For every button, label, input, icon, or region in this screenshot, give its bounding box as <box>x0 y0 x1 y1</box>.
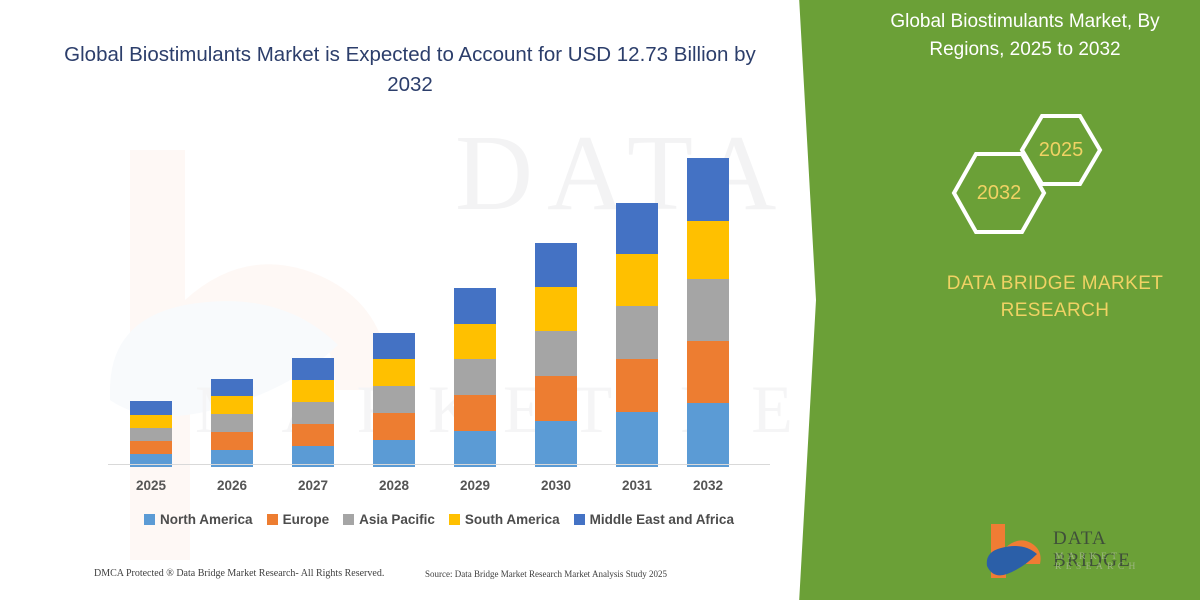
legend-label: Europe <box>283 512 330 527</box>
bar-segment[interactable] <box>373 386 415 413</box>
chart-plot-area <box>108 145 768 467</box>
legend-swatch-icon <box>343 514 354 525</box>
hexagon-label-2025: 2025 <box>1039 139 1084 162</box>
bar-segment[interactable] <box>373 413 415 440</box>
bar-segment[interactable] <box>454 324 496 359</box>
bar-segment[interactable] <box>292 424 334 446</box>
legend-item[interactable]: Middle East and Africa <box>574 512 734 527</box>
data-bridge-logo: DATA BRIDGE MARKET RESEARCH <box>985 522 1185 584</box>
chart-legend: North AmericaEuropeAsia PacificSouth Ame… <box>108 512 770 527</box>
brand-name: DATA BRIDGE MARKET RESEARCH <box>920 270 1190 324</box>
bar-segment[interactable] <box>292 358 334 380</box>
x-axis-tick-label: 2027 <box>273 478 353 493</box>
legend-label: South America <box>465 512 560 527</box>
hexagon-label-2032: 2032 <box>977 182 1022 205</box>
bar-segment[interactable] <box>616 359 658 412</box>
legend-item[interactable]: South America <box>449 512 560 527</box>
bar-segment[interactable] <box>616 203 658 254</box>
hexagon-badge-2025: 2025 <box>1018 112 1104 188</box>
bar-segment[interactable] <box>687 158 729 221</box>
x-axis-tick-label: 2029 <box>435 478 515 493</box>
bar-segment[interactable] <box>616 412 658 467</box>
bar-segment[interactable] <box>292 380 334 402</box>
x-axis-tick-label: 2031 <box>597 478 677 493</box>
stacked-bar[interactable] <box>454 288 496 467</box>
bar-segment[interactable] <box>211 432 253 450</box>
bar-segment[interactable] <box>130 428 172 441</box>
footer-dmca-text: DMCA Protected ® Data Bridge Market Rese… <box>94 568 384 579</box>
x-axis-tick-label: 2025 <box>111 478 191 493</box>
legend-swatch-icon <box>449 514 460 525</box>
footer: DMCA Protected ® Data Bridge Market Rese… <box>80 568 780 584</box>
legend-swatch-icon <box>574 514 585 525</box>
stacked-bar[interactable] <box>211 379 253 467</box>
bar-segment[interactable] <box>687 403 729 467</box>
legend-label: Asia Pacific <box>359 512 435 527</box>
stacked-bar[interactable] <box>292 358 334 467</box>
bar-segment[interactable] <box>454 359 496 395</box>
bar-segment[interactable] <box>373 359 415 386</box>
bar-segment[interactable] <box>454 395 496 431</box>
bar-segment[interactable] <box>616 254 658 306</box>
bar-segment[interactable] <box>211 396 253 414</box>
bar-segment[interactable] <box>535 243 577 287</box>
legend-swatch-icon <box>267 514 278 525</box>
stacked-bar[interactable] <box>616 203 658 467</box>
stacked-bar[interactable] <box>130 401 172 467</box>
data-bridge-b-icon <box>985 522 1049 580</box>
bar-segment[interactable] <box>373 333 415 359</box>
bar-segment[interactable] <box>130 415 172 428</box>
legend-item[interactable]: Asia Pacific <box>343 512 435 527</box>
panel-title: Global Biostimulants Market, By Regions,… <box>860 8 1190 64</box>
chart-title: Global Biostimulants Market is Expected … <box>60 40 760 100</box>
legend-label: Middle East and Africa <box>590 512 734 527</box>
bar-segment[interactable] <box>130 454 172 467</box>
x-axis-labels: 20252026202720282029203020312032 <box>108 478 770 498</box>
bar-segment[interactable] <box>130 401 172 415</box>
stacked-bar[interactable] <box>687 158 729 467</box>
bar-segment[interactable] <box>535 376 577 421</box>
x-axis-tick-label: 2026 <box>192 478 272 493</box>
x-axis-tick-label: 2028 <box>354 478 434 493</box>
bar-segment[interactable] <box>616 306 658 359</box>
bar-segment[interactable] <box>211 379 253 396</box>
bar-segment[interactable] <box>535 287 577 331</box>
logo-subtitle: MARKET RESEARCH <box>1055 552 1185 572</box>
x-axis-line <box>108 464 770 465</box>
bar-segment[interactable] <box>130 441 172 454</box>
legend-label: North America <box>160 512 253 527</box>
bar-segment[interactable] <box>687 279 729 341</box>
x-axis-tick-label: 2032 <box>668 478 748 493</box>
stacked-bar[interactable] <box>535 243 577 467</box>
bar-segment[interactable] <box>454 431 496 467</box>
legend-swatch-icon <box>144 514 155 525</box>
infographic-canvas: DATA BRIDGE MARKET RESEARCH Global Biost… <box>0 0 1200 600</box>
bar-segment[interactable] <box>292 402 334 424</box>
x-axis-tick-label: 2030 <box>516 478 596 493</box>
legend-item[interactable]: North America <box>144 512 253 527</box>
stacked-bar[interactable] <box>373 333 415 467</box>
bar-segment[interactable] <box>687 221 729 279</box>
bar-segment[interactable] <box>687 341 729 403</box>
bar-segment[interactable] <box>535 421 577 467</box>
hexagon-badges: 2032 2025 <box>930 112 1130 232</box>
bar-segment[interactable] <box>211 414 253 432</box>
bar-segment[interactable] <box>535 331 577 376</box>
legend-item[interactable]: Europe <box>267 512 330 527</box>
bar-segment[interactable] <box>373 440 415 467</box>
bar-segment[interactable] <box>454 288 496 324</box>
footer-source-text: Source: Data Bridge Market Research Mark… <box>425 569 667 579</box>
